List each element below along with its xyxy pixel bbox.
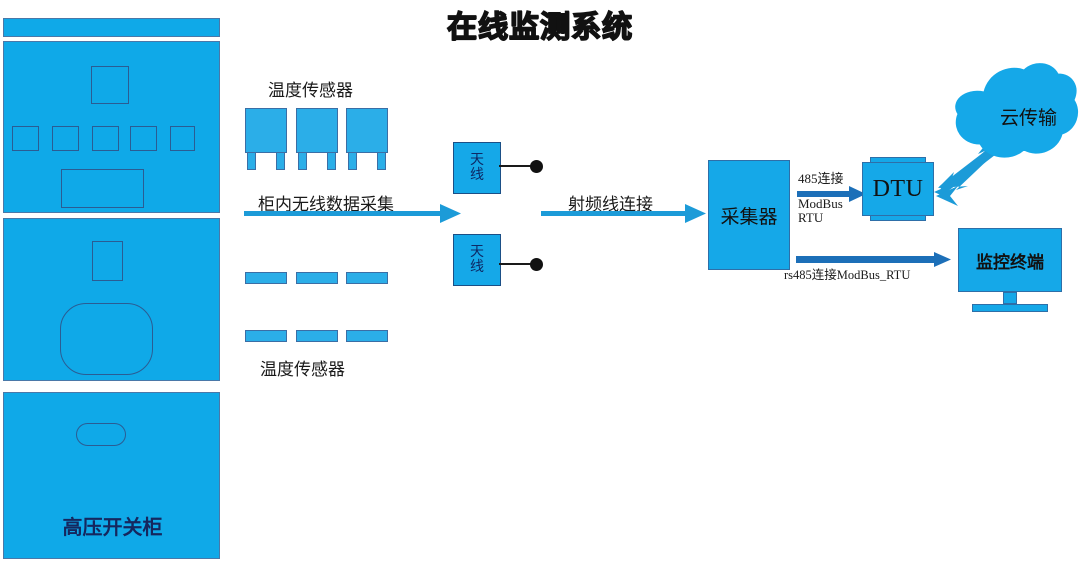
antenna-box: 天线 — [453, 142, 501, 194]
rounded-window — [60, 303, 153, 375]
antenna-label: 天线 — [469, 245, 485, 275]
upper-sensor-label: 温度传感器 — [268, 76, 353, 101]
indicator-3 — [92, 126, 119, 151]
high-voltage-cabinet: 高压开关柜 — [0, 0, 230, 566]
monitor-neck — [1003, 292, 1017, 304]
antenna-node-dot — [530, 258, 543, 271]
rs485-modbus-line-1: 485连接 — [798, 172, 844, 186]
sensor-leg-left — [348, 152, 357, 170]
rf-cable-arrow — [541, 202, 707, 226]
sensor-body — [296, 108, 338, 153]
sensor-leg-left — [298, 152, 307, 170]
nameplate-rect — [61, 169, 144, 208]
lower-sensor-label: 温度传感器 — [260, 355, 345, 380]
rs485-modbus-line-3: RTU — [798, 211, 843, 225]
indicator-4 — [130, 126, 157, 151]
upper-sensor-group — [245, 108, 390, 170]
cabinet-upper-panel — [3, 41, 220, 213]
cabinet-lower-panel: 高压开关柜 — [3, 392, 220, 559]
sensor-leg-right — [327, 152, 336, 170]
antenna-node-dot — [530, 160, 543, 173]
sensor-body — [245, 108, 287, 153]
temperature-sensor — [296, 108, 338, 170]
sensor-flat-bar — [296, 330, 338, 342]
cabinet-middle-panel — [3, 218, 220, 381]
monitoring-terminal: 监控终端 — [958, 228, 1062, 316]
cabinet-label: 高压开关柜 — [4, 511, 221, 540]
antenna-upper: 天线 — [453, 142, 548, 194]
sensor-flat-bar — [296, 272, 338, 284]
antenna-label: 天线 — [469, 153, 485, 183]
rs485-terminal-label: rs485连接ModBus_RTU — [784, 264, 910, 283]
collector-label: 采集器 — [720, 202, 777, 229]
temperature-sensor — [346, 108, 388, 170]
dtu-device: DTU — [862, 157, 934, 221]
indicator-1 — [12, 126, 39, 151]
rs485-modbus-label: 485连接 — [798, 172, 844, 186]
sensor-leg-right — [276, 152, 285, 170]
meter-square — [91, 66, 129, 104]
cloud-label: 云传输 — [1000, 103, 1057, 130]
dtu-body: DTU — [862, 162, 934, 216]
sensor-body — [346, 108, 388, 153]
rs485-modbus-line-2: ModBus — [798, 197, 843, 211]
sensor-flat-bar — [346, 330, 388, 342]
cabinet-top-bar — [3, 18, 220, 37]
temperature-sensor — [245, 108, 287, 170]
collector: 采集器 — [708, 160, 790, 270]
antenna-lower: 天线 — [453, 234, 548, 286]
diagram-canvas: 在线监测系统 高压开关柜 温度传感器 — [0, 0, 1080, 566]
antenna-box: 天线 — [453, 234, 501, 286]
indicator-5 — [170, 126, 195, 151]
monitor-label: 监控终端 — [976, 248, 1044, 273]
pill-handle — [76, 423, 126, 446]
sensor-leg-left — [247, 152, 256, 170]
dtu-label: DTU — [873, 176, 924, 203]
sensor-leg-right — [377, 152, 386, 170]
sensor-flat-bar — [245, 272, 287, 284]
monitor-screen: 监控终端 — [958, 228, 1062, 292]
sensor-flat-bar — [346, 272, 388, 284]
monitor-base — [972, 304, 1048, 312]
rs485-modbus-label-rest: ModBus RTU — [798, 197, 843, 225]
wireless-collection-arrow — [244, 202, 462, 226]
sensor-flat-bar — [245, 330, 287, 342]
indicator-2 — [52, 126, 79, 151]
middle-small-rect — [92, 241, 123, 281]
lower-sensor-group — [245, 272, 390, 350]
